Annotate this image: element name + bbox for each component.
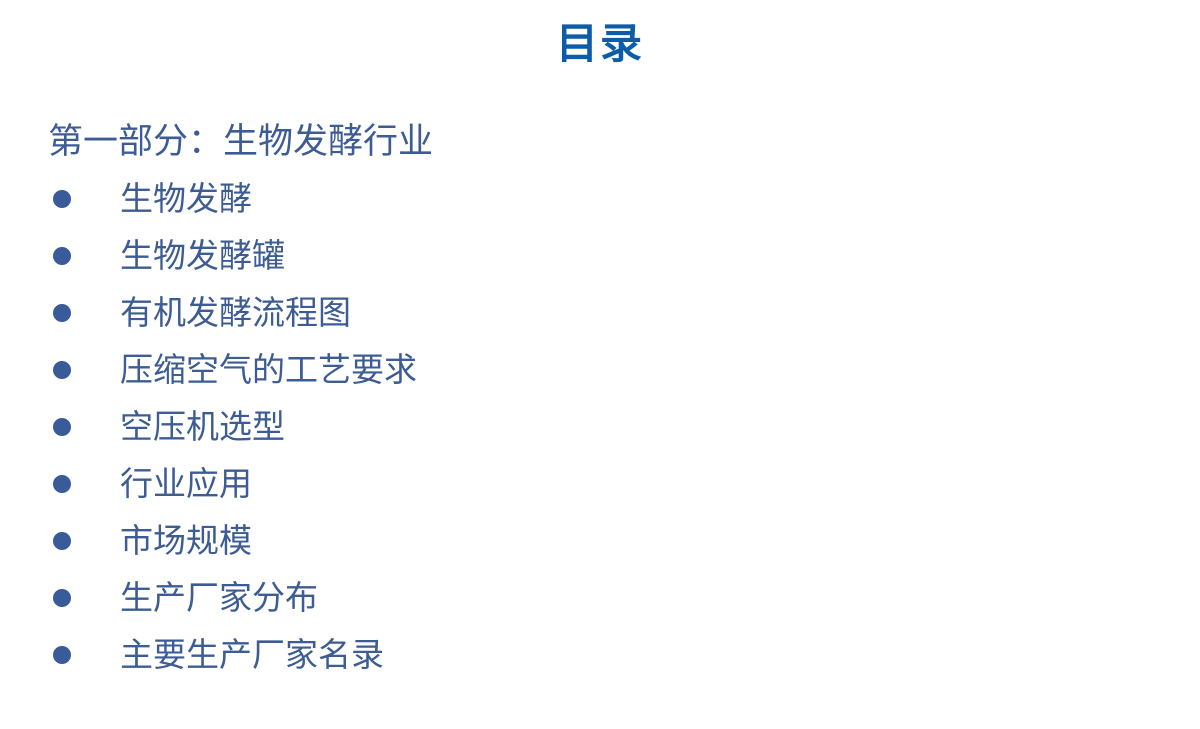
toc-entry-label: 主要生产厂家名录: [48, 626, 384, 683]
table-of-contents-slide: 目录 第一部分：生物发酵行业 生物发酵 生物发酵罐 有机发酵流程图: [0, 0, 1200, 729]
bullet-dot-icon: [53, 418, 71, 436]
toc-entry[interactable]: 生物发酵: [48, 170, 557, 227]
bullet-dot-icon: [53, 190, 71, 208]
toc-entry[interactable]: 生产厂家分布: [48, 569, 557, 626]
toc-entry[interactable]: 行业应用: [48, 455, 557, 512]
toc-list-right: 臭氧 臭氧发生器 臭氧发生流程图 臭氧发生器的种类 压缩空气的工艺要求: [557, 170, 1200, 683]
toc-entry[interactable]: 压缩空气的工艺要求: [48, 341, 557, 398]
toc-entry-label: 生物发酵: [48, 170, 252, 227]
toc-list-left: 生物发酵 生物发酵罐 有机发酵流程图 压缩空气的工艺要求 空压机选型: [48, 170, 557, 683]
toc-entry[interactable]: 主要生产厂家名录: [48, 626, 557, 683]
toc-entry-label: 有机发酵流程图: [48, 284, 351, 341]
page-title: 目录: [0, 18, 1200, 70]
bullet-dot-icon: [53, 361, 71, 379]
section-heading-part-two: 第二部分 臭氧环保行业: [557, 118, 1200, 166]
toc-entry-label: 空压机选型: [48, 398, 285, 455]
bullet-dot-icon: [53, 646, 71, 664]
bullet-dot-icon: [53, 475, 71, 493]
toc-entry-label: 压缩空气的工艺要求: [48, 341, 417, 398]
bullet-dot-icon: [53, 589, 71, 607]
section-heading-part-one: 第一部分：生物发酵行业: [48, 118, 557, 166]
toc-entry-label: 行业应用: [48, 455, 252, 512]
toc-entry-label: 生产厂家分布: [48, 569, 318, 626]
toc-entry[interactable]: 空压机选型: [48, 398, 557, 455]
bullet-dot-icon: [53, 247, 71, 265]
bullet-dot-icon: [53, 532, 71, 550]
toc-entry[interactable]: 有机发酵流程图: [48, 284, 557, 341]
toc-entry[interactable]: 市场规模: [48, 512, 557, 569]
toc-entry-label: 市场规模: [48, 512, 252, 569]
toc-column-right: 第二部分 臭氧环保行业 臭氧 臭氧发生器 臭氧发生流程图 臭氧发生器的种类: [557, 118, 1200, 683]
toc-entry-label: 生物发酵罐: [48, 227, 285, 284]
toc-column-left: 第一部分：生物发酵行业 生物发酵 生物发酵罐 有机发酵流程图 压缩空气的工艺要求: [0, 118, 557, 683]
toc-columns: 第一部分：生物发酵行业 生物发酵 生物发酵罐 有机发酵流程图 压缩空气的工艺要求: [0, 118, 1200, 683]
toc-entry[interactable]: 生物发酵罐: [48, 227, 557, 284]
bullet-dot-icon: [53, 304, 71, 322]
